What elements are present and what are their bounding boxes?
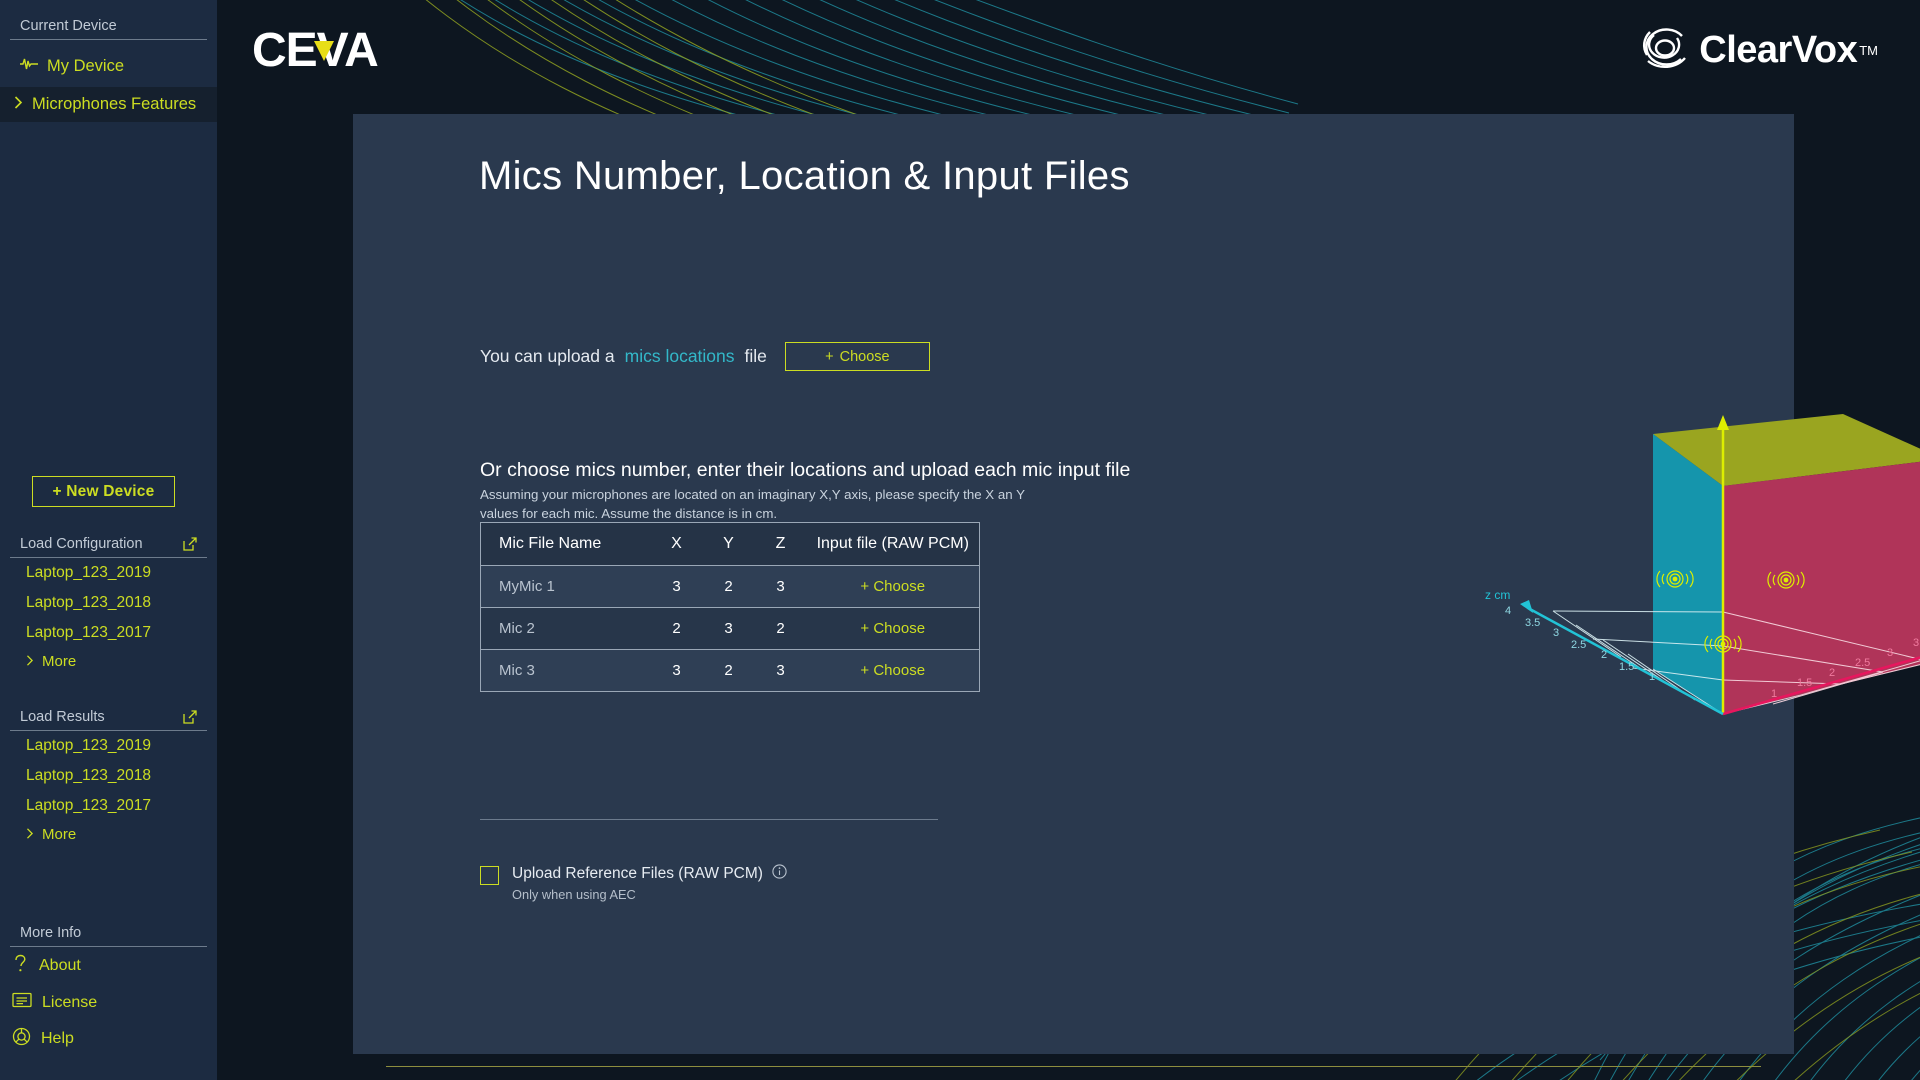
sidebar-item-help[interactable]: Help [0, 1020, 217, 1058]
load-configuration-title: Load Configuration [20, 536, 143, 552]
config-item-2[interactable]: Laptop_123_2017 [0, 618, 217, 648]
checkbox-label: Upload Reference Files (RAW PCM) [512, 865, 763, 883]
header: CEVA ClearVox TM [217, 0, 1920, 110]
sidebar-item-about[interactable]: About [0, 947, 217, 985]
current-device-text: Current Device [20, 18, 117, 34]
results-item-1[interactable]: Laptop_123_2018 [0, 761, 217, 791]
th-input-file: Input file (RAW PCM) [807, 523, 980, 566]
main-content-card: Mics Number, Location & Input Files You … [353, 114, 1794, 1054]
info-circle-icon[interactable] [772, 864, 787, 884]
lifebuoy-icon [12, 1027, 31, 1051]
load-results-more[interactable]: More [0, 821, 217, 848]
table-header-row: Mic File Name X Y Z Input file (RAW PCM) [481, 523, 980, 566]
load-results-header: Load Results [10, 709, 207, 731]
checkbox-sublabel: Only when using AEC [512, 887, 787, 902]
cell-y[interactable]: 2 [703, 650, 755, 692]
sidebar-current-device-label: Current Device [10, 18, 207, 40]
new-device-button[interactable]: + New Device [32, 476, 175, 507]
upload-reference-files-checkbox[interactable] [480, 866, 499, 885]
section-divider [480, 819, 938, 820]
sidebar-item-label: About [39, 957, 81, 975]
config-item-1[interactable]: Laptop_123_2018 [0, 588, 217, 618]
cell-x[interactable]: 3 [651, 650, 703, 692]
cell-mic-name[interactable]: Mic 3 [481, 650, 651, 692]
load-configuration-header: Load Configuration [10, 536, 207, 558]
svg-text:1.5: 1.5 [1619, 661, 1634, 673]
th-z: Z [755, 523, 807, 566]
section-2-title: Or choose mics number, enter their locat… [480, 459, 1130, 482]
cell-mic-name[interactable]: MyMic 1 [481, 566, 651, 608]
upload-text-before: You can upload a [480, 346, 615, 367]
choose-input-file-button[interactable]: + Choose [807, 650, 980, 692]
section-2-subtitle: Assuming your microphones are located on… [480, 485, 1050, 524]
sidebar-item-license[interactable]: License [0, 985, 217, 1020]
svg-text:4: 4 [1505, 605, 1511, 617]
checkbox-label-wrap: Upload Reference Files (RAW PCM) [512, 864, 787, 884]
choose-label: Choose [840, 349, 890, 365]
config-item-0[interactable]: Laptop_123_2019 [0, 558, 217, 588]
table-row: Mic 2 2 3 2 + Choose [481, 608, 980, 650]
more-info-title: More Info [20, 925, 81, 941]
svg-text:1.5: 1.5 [1797, 677, 1812, 689]
chevron-right-icon [26, 826, 34, 843]
load-results-title: Load Results [20, 709, 105, 725]
waveform-icon [20, 57, 38, 76]
svg-text:3: 3 [1553, 627, 1559, 639]
cell-mic-name[interactable]: Mic 2 [481, 608, 651, 650]
question-mark-icon [12, 954, 29, 978]
choose-mics-locations-button[interactable]: + Choose [785, 342, 930, 371]
clearvox-logo: ClearVox TM [1637, 22, 1878, 79]
table-row: Mic 3 3 2 3 + Choose [481, 650, 980, 692]
th-y: Y [703, 523, 755, 566]
cell-z[interactable]: 3 [755, 566, 807, 608]
cell-x[interactable]: 2 [651, 608, 703, 650]
document-lines-icon [12, 992, 32, 1013]
load-configuration-more[interactable]: More [0, 648, 217, 675]
svg-text:2: 2 [1601, 649, 1607, 661]
sidebar-item-label: Help [41, 1030, 74, 1048]
clearvox-wordmark: ClearVox [1699, 29, 1857, 72]
footer-divider [386, 1066, 1761, 1067]
mics-3d-plot[interactable]: y cm x cm z cm 4 3.5 3 2.5 2 1.5 1 4 3.5 [1443, 414, 1920, 834]
results-item-0[interactable]: Laptop_123_2019 [0, 731, 217, 761]
chevron-right-icon [14, 95, 23, 114]
cell-x[interactable]: 3 [651, 566, 703, 608]
upload-text-after: file [745, 346, 767, 367]
svg-text:1: 1 [1771, 688, 1777, 700]
sidebar-item-label: My Device [47, 57, 124, 76]
mics-locations-upload-row: You can upload a mics locations file + C… [480, 342, 930, 371]
choose-input-file-button[interactable]: + Choose [807, 566, 980, 608]
cell-y[interactable]: 3 [703, 608, 755, 650]
mics-locations-link[interactable]: mics locations [625, 346, 735, 367]
table-row: MyMic 1 3 2 3 + Choose [481, 566, 980, 608]
th-x: X [651, 523, 703, 566]
more-label: More [42, 826, 76, 843]
choose-input-file-button[interactable]: + Choose [807, 608, 980, 650]
clearvox-mark-icon [1637, 22, 1693, 79]
svg-text:2.5: 2.5 [1855, 657, 1870, 669]
sidebar-item-microphones-features[interactable]: Microphones Features [0, 87, 217, 122]
page-title: Mics Number, Location & Input Files [479, 154, 1130, 199]
plus-icon: + [825, 349, 833, 365]
svg-text:CEVA: CEVA [252, 25, 378, 77]
external-link-icon[interactable] [183, 537, 197, 551]
svg-text:2: 2 [1829, 667, 1835, 679]
plot-z-axis-label: z cm [1485, 588, 1510, 602]
cell-y[interactable]: 2 [703, 566, 755, 608]
chevron-right-icon [26, 653, 34, 670]
cell-z[interactable]: 2 [755, 608, 807, 650]
trademark-symbol: TM [1859, 43, 1878, 58]
mics-table: Mic File Name X Y Z Input file (RAW PCM)… [480, 522, 980, 692]
svg-text:1: 1 [1649, 671, 1655, 683]
svg-text:3: 3 [1887, 647, 1893, 659]
external-link-icon[interactable] [183, 710, 197, 724]
more-label: More [42, 653, 76, 670]
svg-text:2.5: 2.5 [1571, 639, 1586, 651]
sidebar-item-my-device[interactable]: My Device [0, 49, 144, 84]
svg-text:3.5: 3.5 [1913, 637, 1920, 649]
cell-z[interactable]: 3 [755, 650, 807, 692]
more-info-header: More Info [10, 925, 207, 947]
sidebar: Current Device My Device Microphones Fea… [0, 0, 217, 1080]
sidebar-item-label: License [42, 994, 97, 1012]
ceva-logo: CEVA [252, 25, 384, 82]
th-mic-file-name: Mic File Name [481, 523, 651, 566]
sidebar-item-label: Microphones Features [32, 95, 196, 114]
plot-z-ticks: 4 3.5 3 2.5 2 1.5 1 [1505, 605, 1655, 683]
upload-reference-files-row: Upload Reference Files (RAW PCM) Only wh… [480, 864, 787, 902]
results-item-2[interactable]: Laptop_123_2017 [0, 791, 217, 821]
plot-right-wall [1723, 459, 1920, 714]
svg-text:3.5: 3.5 [1525, 617, 1540, 629]
